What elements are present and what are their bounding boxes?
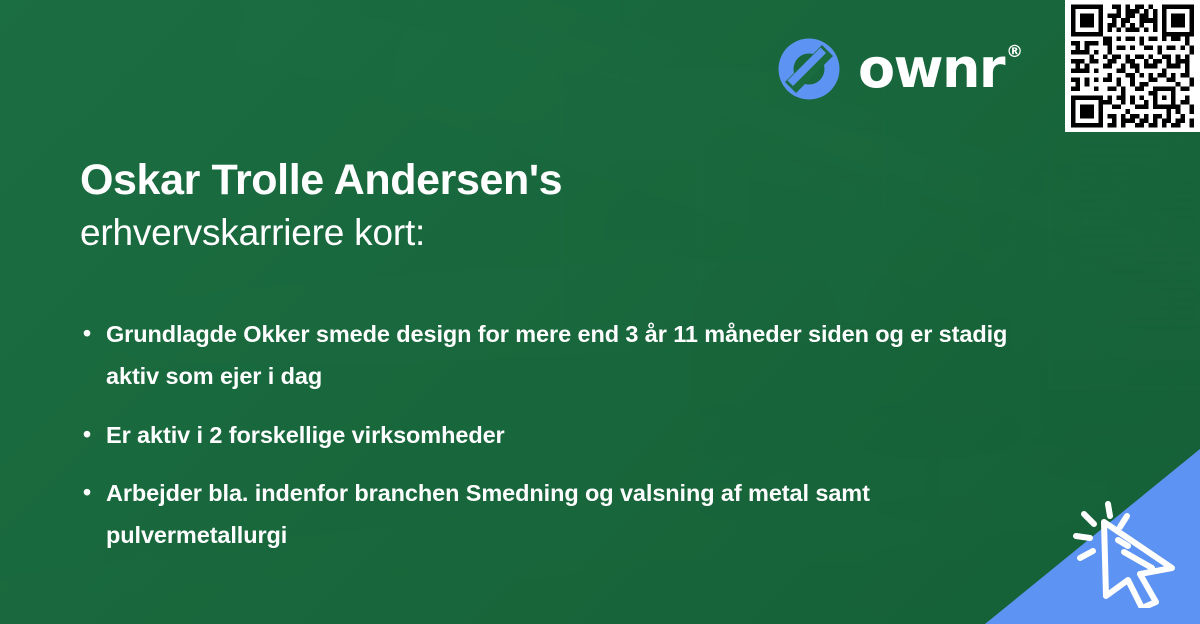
ownr-circle-logo-icon xyxy=(776,36,842,102)
career-summary-list: Grundlagde Okker smede design for mere e… xyxy=(80,314,1040,557)
ownr-logo[interactable]: ownr ® xyxy=(776,36,1022,102)
list-item: Er aktiv i 2 forskellige virksomheder xyxy=(80,415,1040,457)
ownr-wordmark: ownr ® xyxy=(858,42,1022,96)
title-line-two: erhvervskarriere kort: xyxy=(80,210,980,256)
page-title: Oskar Trolle Andersen's erhvervskarriere… xyxy=(80,155,980,256)
registered-trademark-symbol: ® xyxy=(1006,44,1022,61)
ownr-business-card: ownr ® xyxy=(0,0,1200,624)
wordmark-text: ownr xyxy=(858,42,1004,96)
list-item: Arbejder bla. indenfor branchen Smedning… xyxy=(80,473,1040,557)
click-cursor-icon xyxy=(1068,496,1186,608)
list-item: Grundlagde Okker smede design for mere e… xyxy=(80,314,1040,398)
title-line-one: Oskar Trolle Andersen's xyxy=(80,155,980,206)
qr-code[interactable] xyxy=(1065,0,1200,132)
